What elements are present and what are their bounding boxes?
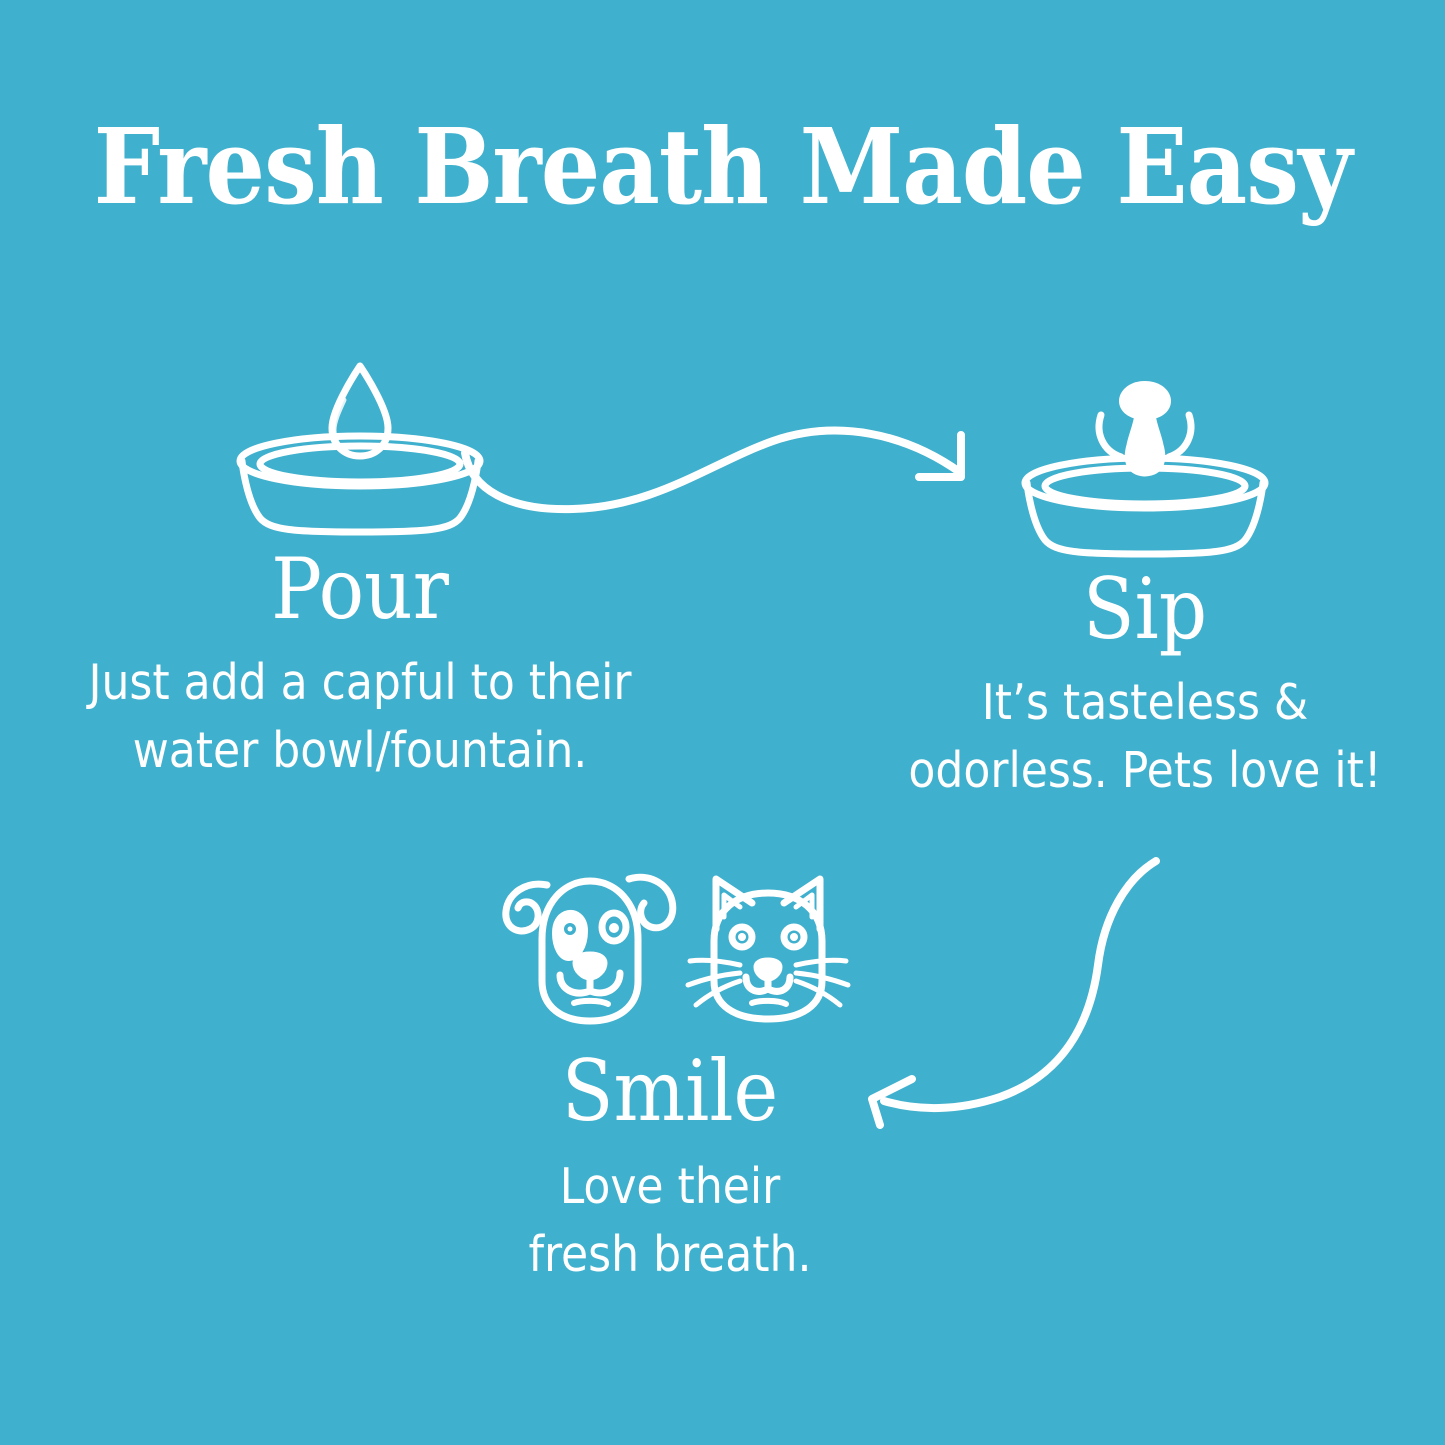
step-sip-description: It’s tasteless & odorless. Pets love it! [845,669,1445,804]
step-smile: Smile Love their fresh breath. [340,855,1000,1288]
cat-face-icon [688,879,848,1019]
step-sip-heading: Sip [845,567,1445,651]
step-smile-description-line1: Love their [340,1153,1000,1221]
step-smile-heading: Smile [340,1049,1000,1133]
step-sip-description-line2: odorless. Pets love it! [845,737,1445,805]
dog-drinking-from-bowl-icon [845,375,1445,555]
step-pour-description-line2: water bowl/fountain. [30,717,690,785]
step-sip-description-line1: It’s tasteless & [845,669,1445,737]
dog-face-icon [506,877,673,1021]
dog-and-cat-faces-icon [340,855,1000,1035]
step-pour: Pour Just add a capful to their water bo… [30,360,690,784]
water-bowl-with-droplet-icon [30,360,690,535]
step-smile-description-line2: fresh breath. [340,1221,1000,1289]
step-pour-heading: Pour [30,547,690,631]
infographic-poster: Fresh Breath Made Easy Pour Just add a c… [0,0,1445,1445]
step-sip: Sip It’s tasteless & odorless. Pets love… [845,375,1445,804]
page-title: Fresh Breath Made Easy [0,112,1445,221]
step-pour-description-line1: Just add a capful to their [30,649,690,717]
step-smile-description: Love their fresh breath. [340,1153,1000,1288]
step-pour-description: Just add a capful to their water bowl/fo… [30,649,690,784]
